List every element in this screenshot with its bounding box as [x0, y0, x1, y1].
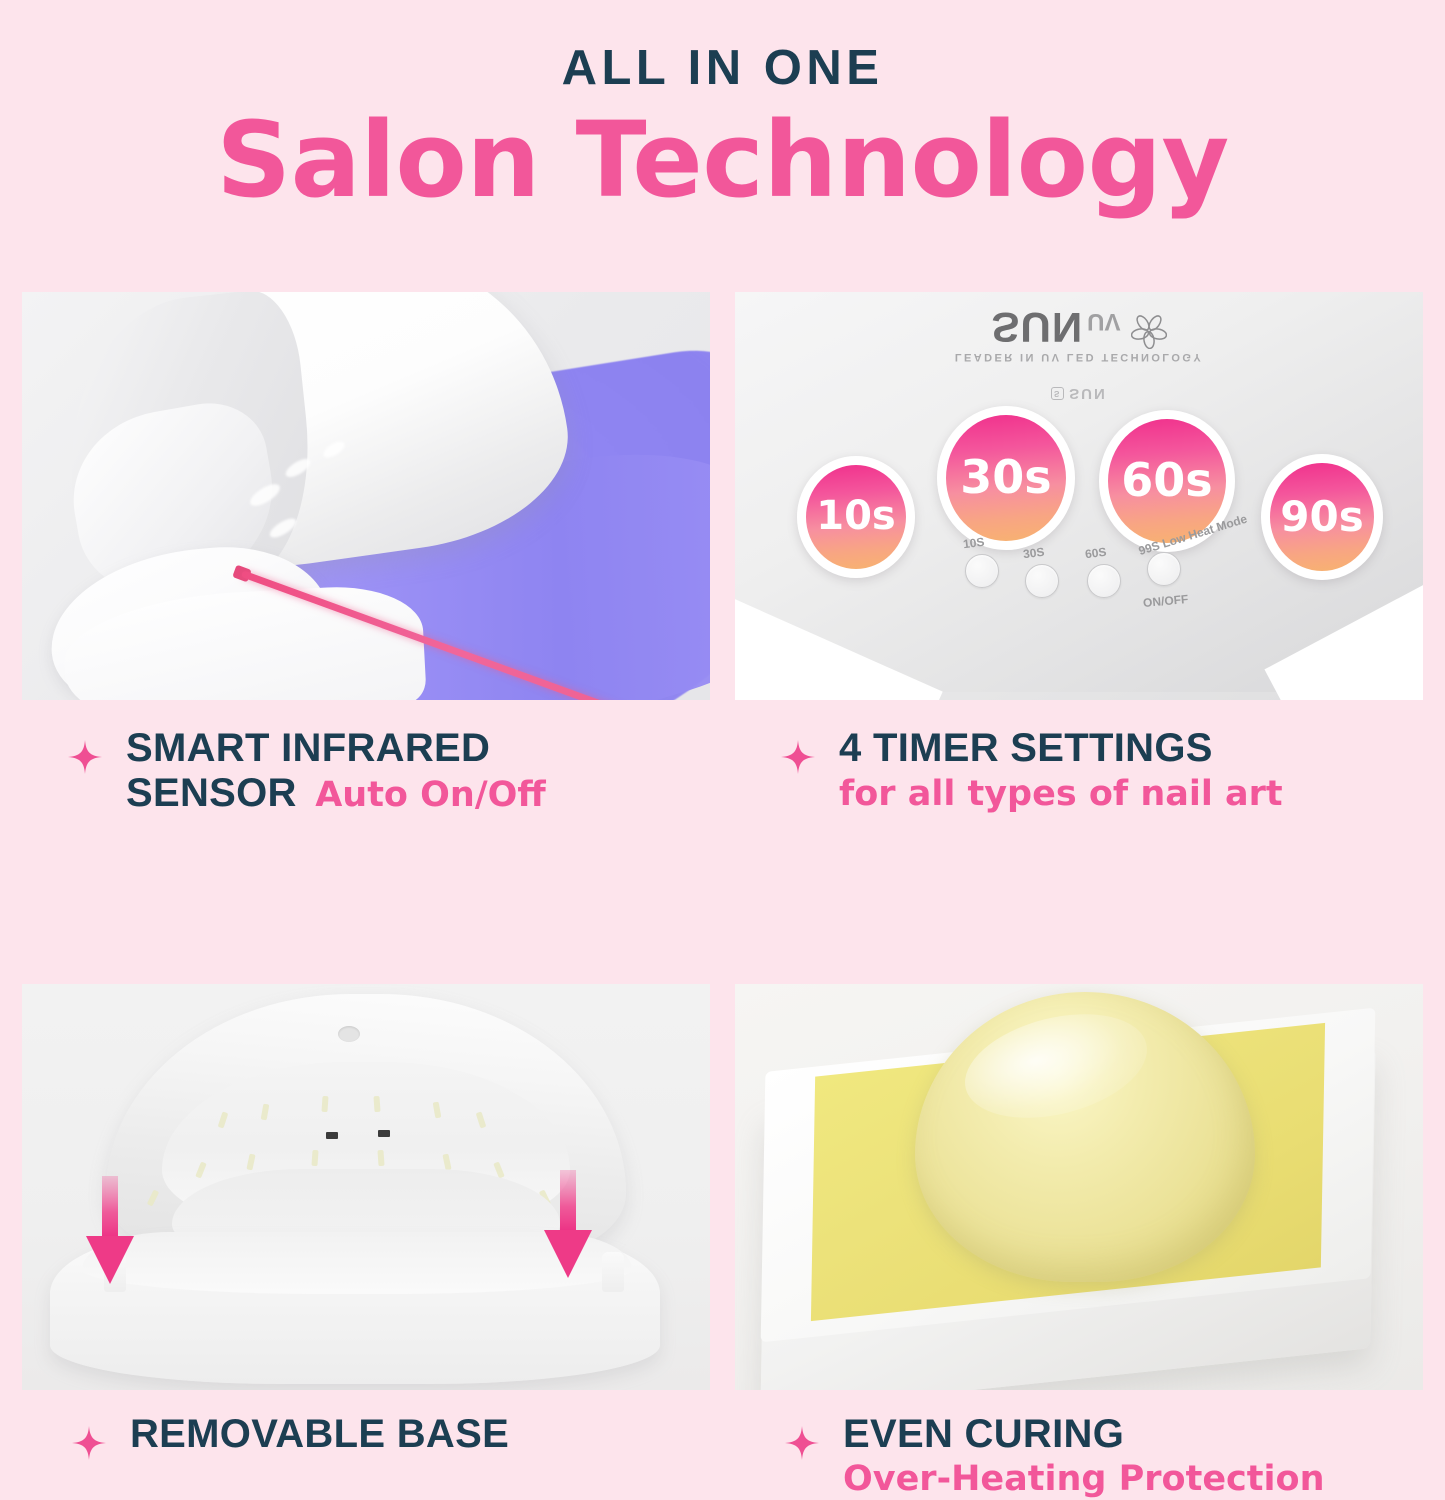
caption-smart-infrared-sensor: SMART INFRARED SENSOR Auto On/Off [22, 700, 710, 816]
vent-slot [326, 1132, 338, 1139]
device-control-row: 10S 30S 60S 99S Low Heat Mode ON/OFF [965, 530, 1225, 640]
feature-subtitle: Over-Heating Protection [843, 1460, 1325, 1499]
page-title: Salon Technology [0, 107, 1445, 213]
timer-bubble-label: 60s [1121, 453, 1212, 507]
feature-grid: SMART INFRARED SENSOR Auto On/Off S SUN … [22, 292, 1423, 1422]
led-bead [321, 1095, 328, 1111]
sparkle-icon [72, 1426, 106, 1465]
led-bead [377, 1149, 384, 1165]
sensor-hole [338, 1026, 360, 1042]
brand-wordmark-suffix: UV [1087, 309, 1120, 333]
brand-wordmark: SUN [991, 306, 1083, 348]
feature-subtitle: for all types of nail art [839, 775, 1283, 814]
brand-logo-reflection: S SUN LEADER IN UV LED TECHNOLOGY SUN UV [735, 306, 1423, 402]
brand-tagline: LEADER IN UV LED TECHNOLOGY [955, 351, 1203, 363]
feature-title: REMOVABLE BASE [130, 1412, 509, 1456]
timer-bubble-90s[interactable]: 90s [1261, 454, 1383, 580]
control-label: 30S [1022, 545, 1045, 561]
arrow-down-icon-right [542, 1170, 594, 1285]
knob-icon [1025, 564, 1059, 598]
image-panel-timer-settings: S SUN LEADER IN UV LED TECHNOLOGY SUN UV [735, 292, 1423, 700]
control-button-10s[interactable]: 10S [965, 554, 999, 588]
feature-cell-removable-base: REMOVABLE BASE [22, 984, 710, 1500]
sparkle-icon [785, 1426, 819, 1465]
sparkle-icon [68, 740, 102, 779]
brand-wordmark-group: SUN UV [991, 306, 1166, 349]
control-button-30s[interactable]: 30S [1025, 564, 1059, 598]
flower-icon [1131, 308, 1167, 349]
image-panel-removable-base [22, 984, 710, 1390]
feature-title: 4 TIMER SETTINGS [839, 726, 1213, 770]
timer-bubble-label: 30s [960, 450, 1051, 504]
control-button-onoff[interactable]: 99S Low Heat Mode ON/OFF [1147, 552, 1181, 586]
arrow-down-icon-left [84, 1176, 136, 1291]
caption-removable-base: REMOVABLE BASE [22, 1390, 710, 1465]
knob-icon [1147, 552, 1181, 586]
feature-title: SMART INFRARED [126, 726, 490, 770]
feature-cell-smart-infrared-sensor: SMART INFRARED SENSOR Auto On/Off [22, 292, 710, 816]
feature-cell-even-curing: EVEN CURING Over-Heating Protection [735, 984, 1423, 1500]
feature-cell-4-timer-settings: S SUN LEADER IN UV LED TECHNOLOGY SUN UV [735, 292, 1423, 816]
header-kicker: ALL IN ONE [0, 44, 1445, 93]
image-panel-infrared-sensor [22, 292, 710, 700]
led-bead [373, 1095, 380, 1111]
feature-subtitle: Auto On/Off [315, 775, 546, 815]
caption-4-timer-settings: 4 TIMER SETTINGS for all types of nail a… [735, 700, 1423, 814]
base-peg-right [602, 1252, 624, 1292]
timer-bubble-label: 10s [816, 493, 895, 539]
control-label-onoff: ON/OFF [1142, 592, 1188, 610]
timer-bubble-label: 90s [1280, 492, 1363, 541]
image-panel-even-curing [735, 984, 1423, 1390]
page-header: ALL IN ONE Salon Technology [0, 0, 1445, 213]
led-bead [311, 1149, 318, 1165]
feature-title: EVEN CURING [843, 1412, 1124, 1456]
knob-icon [1087, 564, 1121, 598]
vent-slot [378, 1130, 390, 1137]
timer-bubble-30s[interactable]: 30s [937, 406, 1075, 550]
control-button-60s[interactable]: 60S [1087, 564, 1121, 598]
timer-bubble-10s[interactable]: 10s [797, 456, 915, 578]
sparkle-icon [781, 740, 815, 779]
knob-icon [965, 554, 999, 588]
feature-title-line2: SENSOR [126, 771, 297, 815]
control-label: 10S [962, 535, 985, 551]
control-label: 60S [1084, 545, 1107, 561]
